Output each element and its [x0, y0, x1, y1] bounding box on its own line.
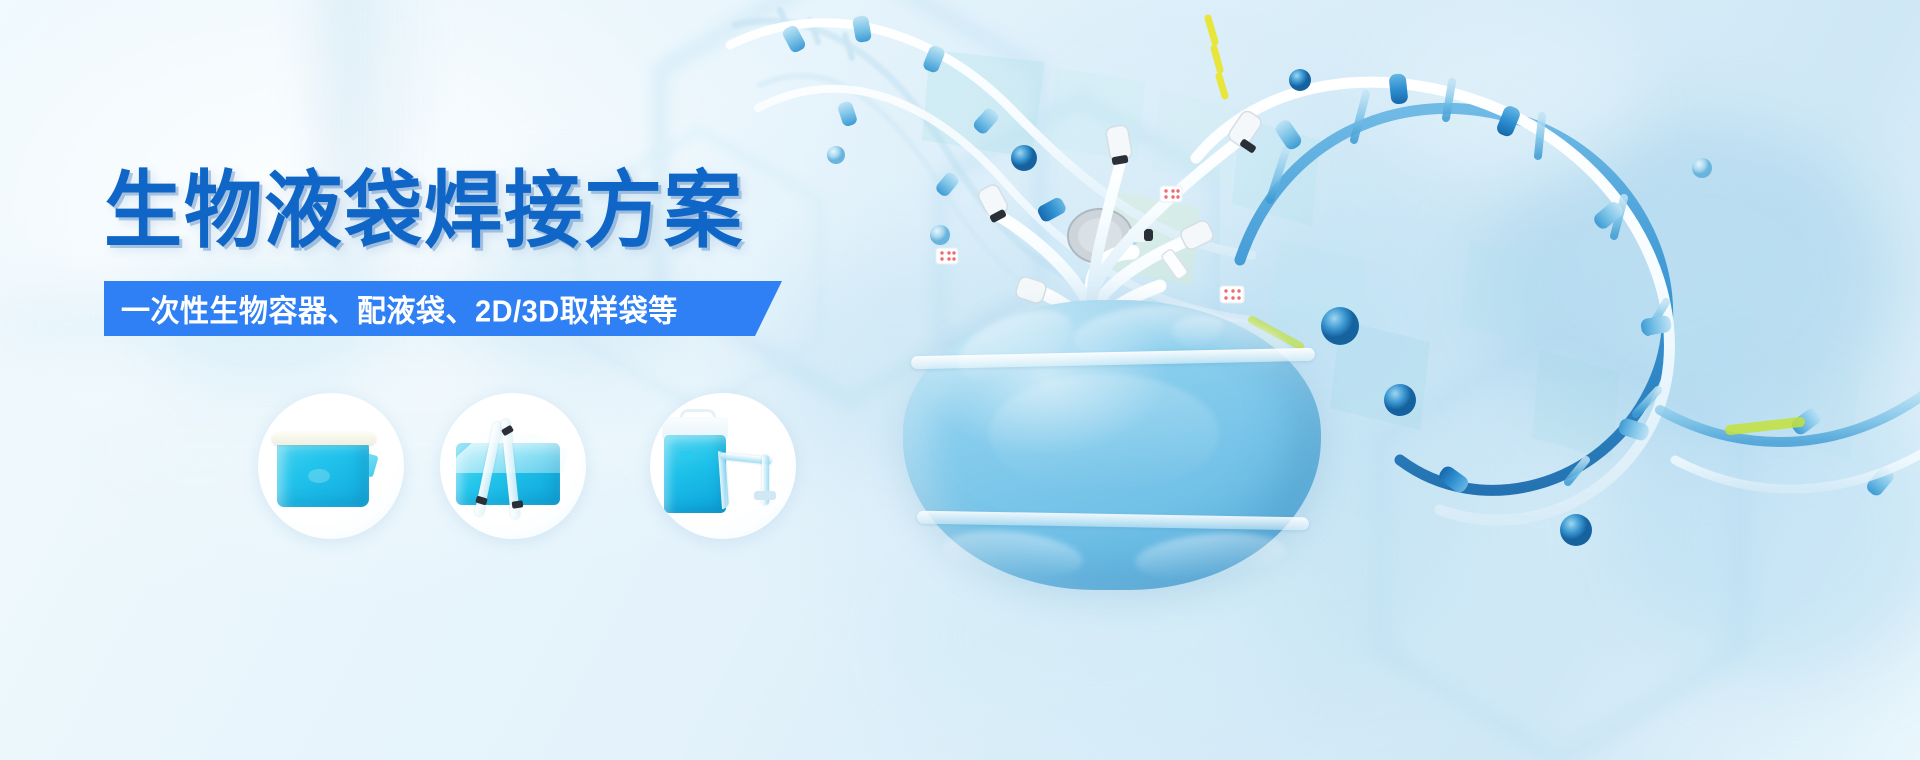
subtitle-bar: 一次性生物容器、配液袋、2D/3D取样袋等 — [104, 281, 782, 336]
product-circle-2d-liquid-bag[interactable] — [258, 393, 404, 539]
page-title: 生物液袋焊接方案 — [104, 168, 864, 252]
product-circle-3d-tubing-bag[interactable] — [440, 393, 586, 539]
promo-banner: 生物液袋焊接方案 一次性生物容器、配液袋、2D/3D取样袋等 — [0, 0, 1920, 760]
sampling-bag-connector — [754, 491, 776, 500]
subtitle-text: 一次性生物容器、配液袋、2D/3D取样袋等 — [104, 286, 678, 331]
product-circle-sampling-bag[interactable] — [650, 393, 796, 539]
tubing-bag-clamp-right — [512, 500, 524, 508]
bioreactor-bag-graphic — [903, 300, 1321, 590]
headline-block: 生物液袋焊接方案 — [104, 168, 864, 246]
liquid-bag-highlight — [308, 469, 330, 483]
sampling-bag-port — [680, 451, 692, 459]
liquid-bag-seal — [272, 432, 376, 445]
sampling-bag-body — [664, 435, 726, 513]
